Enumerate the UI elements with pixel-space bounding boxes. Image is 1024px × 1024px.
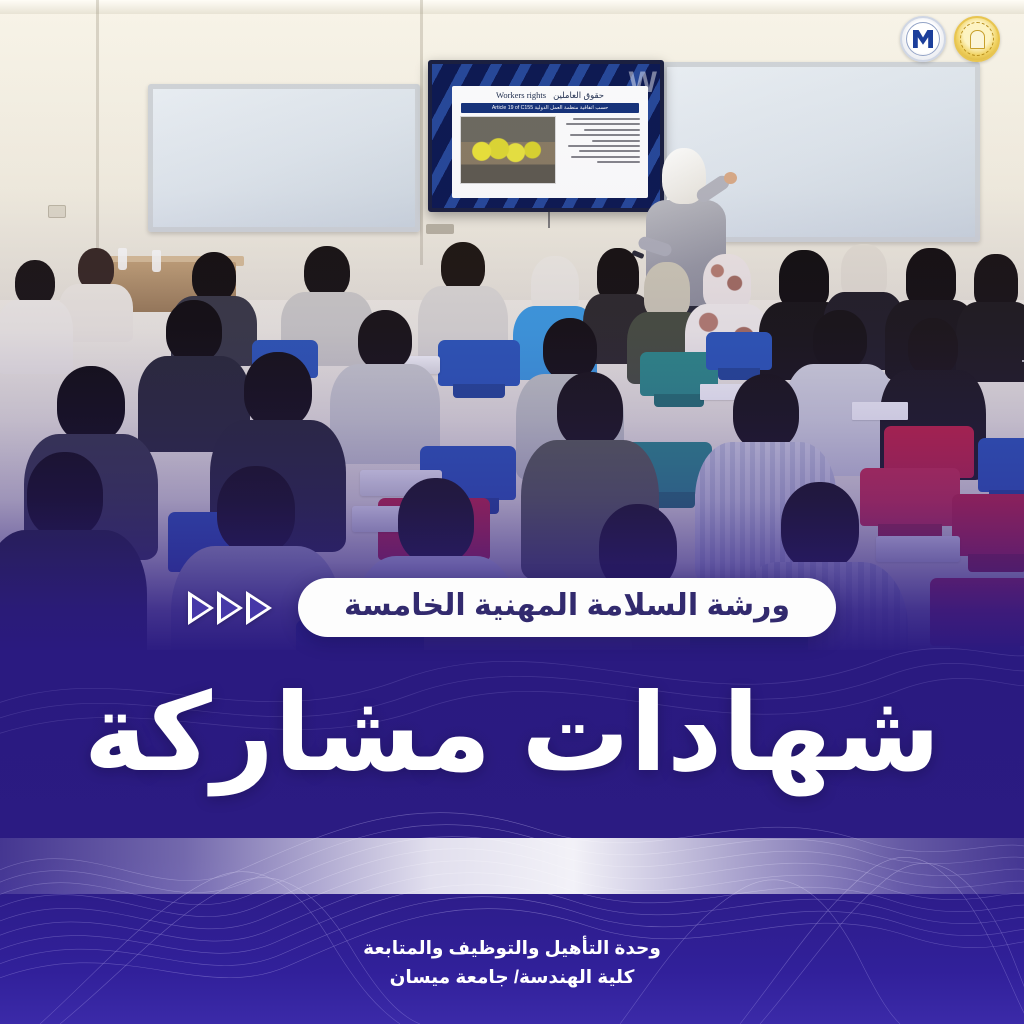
misan-university-logo bbox=[954, 16, 1000, 62]
ministry-of-higher-education-logo bbox=[900, 16, 946, 62]
slide-body bbox=[457, 116, 643, 184]
slide-title-en: Workers rights bbox=[496, 90, 546, 101]
slide-bullet-list bbox=[560, 116, 640, 184]
screen-cable bbox=[548, 210, 550, 228]
whiteboard-left bbox=[148, 84, 420, 232]
footer-credit: وحدة التأهيل والتوظيف والمتابعة كلية اله… bbox=[0, 934, 1024, 991]
presenter-hand bbox=[724, 172, 737, 184]
water-bottle bbox=[152, 250, 161, 272]
slide-title-row: Workers rights حقوق العاملين bbox=[457, 90, 643, 101]
slide-title-ar: حقوق العاملين bbox=[553, 90, 604, 101]
chair bbox=[978, 438, 1024, 492]
workshop-title-badge: ورشة السلامة المهنية الخامسة bbox=[298, 578, 836, 637]
footer-unit-name: وحدة التأهيل والتوظيف والمتابعة bbox=[0, 934, 1024, 963]
wall-seam bbox=[420, 0, 423, 265]
screen-junction-box bbox=[426, 224, 454, 234]
chair bbox=[706, 332, 772, 370]
play-arrow-icon bbox=[188, 591, 214, 625]
presentation-slide: Workers rights حقوق العاملين Article 19 … bbox=[452, 86, 648, 198]
workshop-title-text: ورشة السلامة المهنية الخامسة bbox=[344, 591, 790, 621]
wall-socket bbox=[48, 205, 66, 218]
logo-ring bbox=[960, 22, 994, 56]
wall-seam bbox=[96, 0, 99, 265]
slide-workers-photo bbox=[460, 116, 556, 184]
paper-sheet bbox=[852, 402, 908, 420]
ceiling-edge bbox=[0, 0, 1024, 14]
poster-canvas: W Workers rights حقوق العاملين Article 1… bbox=[0, 0, 1024, 1024]
logo-group bbox=[900, 16, 1000, 62]
footer-college-name: كلية الهندسة/ جامعة ميسان bbox=[0, 963, 1024, 992]
slide-subtitle-bar: Article 19 of C155 حسب اتفاقية منظمة الع… bbox=[461, 103, 639, 113]
play-arrow-icon bbox=[246, 591, 272, 625]
play-arrow-icon bbox=[217, 591, 243, 625]
audience-member bbox=[334, 310, 436, 462]
workshop-badge-row: ورشة السلامة المهنية الخامسة bbox=[0, 578, 1024, 637]
triple-play-arrow-icon bbox=[188, 591, 272, 625]
chair bbox=[438, 340, 520, 386]
audience-member bbox=[0, 260, 70, 370]
page-title: شهادات مشاركة bbox=[0, 676, 1024, 789]
chair bbox=[952, 494, 1024, 556]
presentation-screen: W Workers rights حقوق العاملين Article 1… bbox=[428, 60, 664, 212]
